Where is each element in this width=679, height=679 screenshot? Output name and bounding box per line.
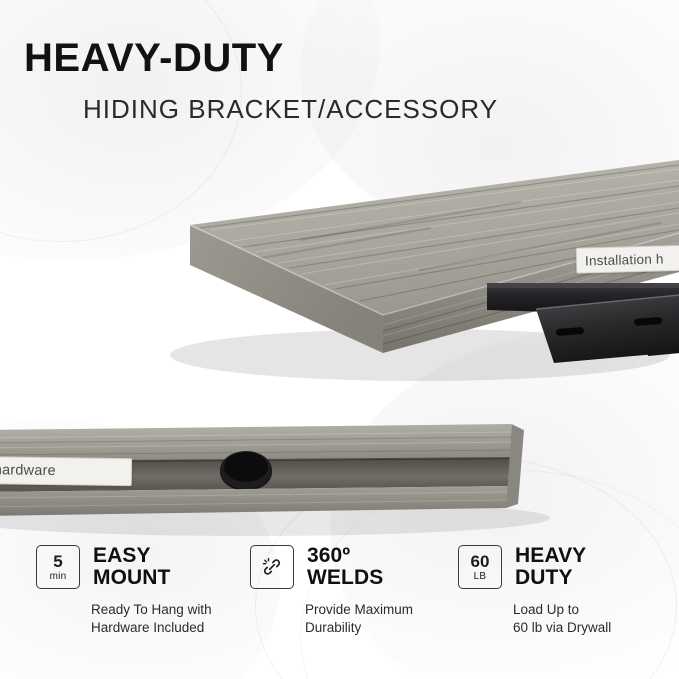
feature-desc-line2: 60 lb via Drywall	[513, 619, 648, 637]
feature-title-line1: EASY	[93, 545, 171, 567]
feature-description: Load Up to 60 lb via Drywall	[513, 601, 648, 637]
feature-description: Ready To Hang with Hardware Included	[91, 601, 236, 637]
feature-description: Provide Maximum Durability	[305, 601, 440, 637]
feature-desc-line2: Durability	[305, 619, 440, 637]
page-subtitle: HIDING BRACKET/ACCESSORY	[83, 96, 498, 122]
feature-title: 360º WELDS	[307, 545, 383, 590]
badge-weld-link	[250, 545, 294, 589]
feature-head: 360º WELDS	[250, 545, 440, 590]
feature-desc-line1: Ready To Hang with	[91, 601, 236, 619]
feature-desc-line2: Hardware Included	[91, 619, 236, 637]
badge-value: 5	[53, 553, 62, 570]
feature-title-line2: WELDS	[307, 567, 383, 589]
feature-title-line2: DUTY	[515, 567, 586, 589]
header-block: HEAVY-DUTY HIDING BRACKET/ACCESSORY	[24, 38, 498, 122]
feature-head: 60 LB HEAVY DUTY	[458, 545, 648, 590]
badge-unit: min	[50, 572, 67, 582]
feature-360-welds: 360º WELDS Provide Maximum Durability	[250, 545, 440, 637]
feature-title: EASY MOUNT	[93, 545, 171, 590]
feature-title-line1: HEAVY	[515, 545, 586, 567]
feature-title-line2: MOUNT	[93, 567, 171, 589]
feature-heavy-duty: 60 LB HEAVY DUTY Load Up to 60 lb via Dr…	[458, 545, 648, 637]
feature-desc-line1: Load Up to	[513, 601, 648, 619]
product-infographic: HEAVY-DUTY HIDING BRACKET/ACCESSORY	[0, 0, 679, 679]
badge-value: 60	[471, 553, 490, 570]
badge-unit: LB	[474, 572, 487, 582]
feature-easy-mount: 5 min EASY MOUNT Ready To Hang with Hard…	[36, 545, 236, 637]
installation-hardware-label-top: Installation h	[576, 244, 679, 273]
feature-title: HEAVY DUTY	[515, 545, 586, 590]
weld-link-icon	[261, 556, 283, 578]
feature-desc-line1: Provide Maximum	[305, 601, 440, 619]
installation-hardware-label-bottom: on hardware	[0, 456, 132, 486]
feature-title-line1: 360º	[307, 545, 383, 567]
page-title: HEAVY-DUTY	[24, 38, 498, 78]
badge-5-min: 5 min	[36, 545, 80, 589]
badge-60-lb: 60 LB	[458, 545, 502, 589]
feature-head: 5 min EASY MOUNT	[36, 545, 236, 590]
feature-row: 5 min EASY MOUNT Ready To Hang with Hard…	[0, 545, 679, 637]
